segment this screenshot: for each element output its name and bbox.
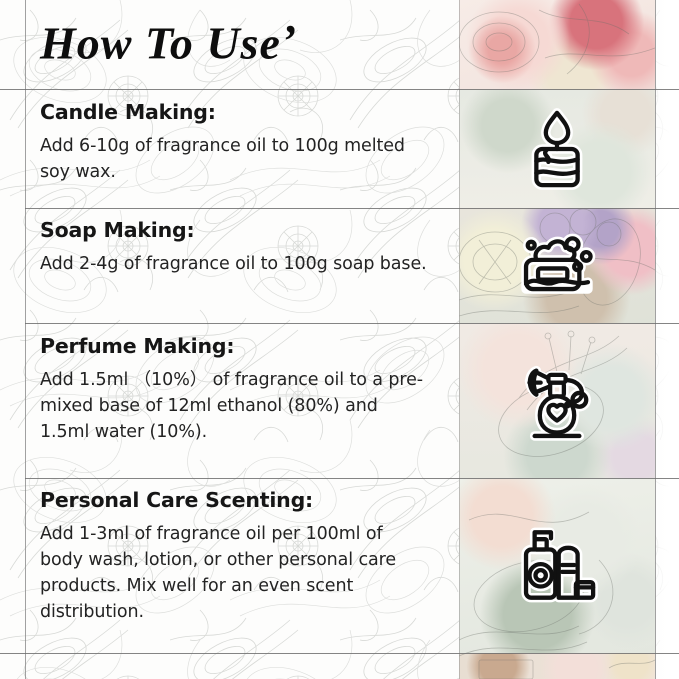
section-heading: Candle Making:: [40, 100, 430, 124]
illustration-band-bottom: [459, 653, 655, 679]
right-margin-fade: [655, 0, 679, 679]
section-candle-making: Candle Making: Add 6-10g of fragrance oi…: [40, 100, 430, 185]
title-swash-flourish: ’: [281, 15, 297, 66]
how-to-use-infographic: How To Use’ Candle Making: Add 6-10g of …: [0, 0, 679, 679]
left-border-line: [25, 0, 26, 679]
right-border-line: [655, 0, 656, 679]
divider-line-5: [0, 653, 679, 654]
divider-line-2: [25, 208, 679, 209]
section-heading: Personal Care Scenting:: [40, 488, 430, 512]
section-personal-care-scenting: Personal Care Scenting: Add 1-3ml of fra…: [40, 488, 430, 625]
section-perfume-making: Perfume Making: Add 1.5ml （10%） of fragr…: [40, 334, 430, 445]
section-body: Add 1-3ml of fragrance oil per 100ml of …: [40, 521, 430, 625]
section-heading: Soap Making:: [40, 218, 427, 242]
section-heading: Perfume Making:: [40, 334, 430, 358]
divider-line-4: [25, 478, 679, 479]
soap-bar-icon: [514, 222, 600, 308]
page-title: How To Use’: [40, 14, 297, 69]
section-soap-making: Soap Making: Add 2-4g of fragrance oil t…: [40, 218, 427, 277]
illustration-band-roses: [459, 0, 655, 90]
candle-icon: [514, 106, 600, 192]
cosmetic-bottles-icon: [514, 522, 600, 608]
perfume-bottle-icon: [514, 362, 600, 448]
page-title-text: How To Use: [40, 17, 281, 68]
divider-line-1: [0, 89, 679, 90]
divider-line-3: [25, 323, 679, 324]
section-body: Add 1.5ml （10%） of fragrance oil to a pr…: [40, 367, 430, 445]
section-body: Add 6-10g of fragrance oil to 100g melte…: [40, 133, 430, 185]
section-body: Add 2-4g of fragrance oil to 100g soap b…: [40, 251, 427, 277]
column-divider-line: [459, 0, 460, 679]
